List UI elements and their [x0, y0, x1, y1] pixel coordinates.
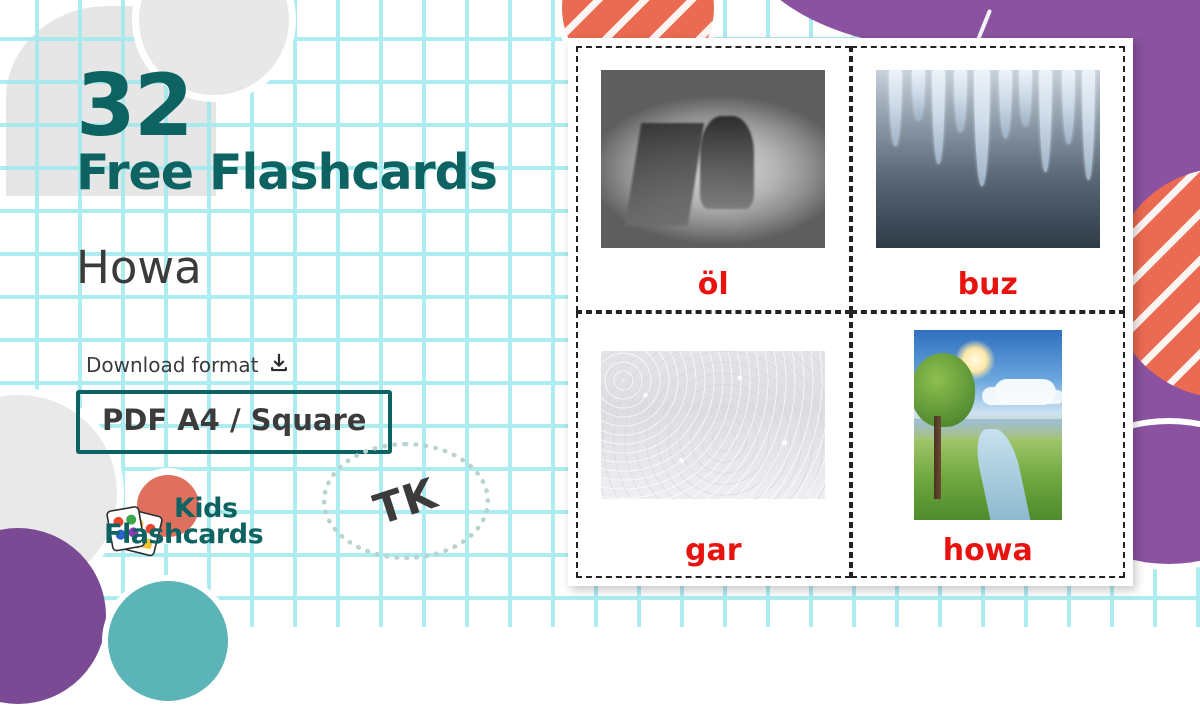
flashcards-preview-panel: öl buz [568, 38, 1133, 586]
flashcard[interactable]: buz [851, 46, 1126, 312]
download-format-row: Download format [86, 352, 290, 378]
flashcard-count: 32 [76, 66, 192, 148]
landscape-weather-photo [914, 330, 1062, 520]
flashcard-label: howa [943, 536, 1033, 576]
flashcard[interactable]: howa [851, 312, 1126, 578]
download-format-button[interactable]: PDF A4 / Square [76, 390, 392, 454]
left-info-column: 32 Free Flashcards Howa Download format … [0, 0, 560, 627]
icicles-photo [876, 70, 1100, 248]
flashcard-label: gar [685, 536, 742, 576]
download-format-label: Download format [86, 353, 259, 377]
flashcard-image [853, 48, 1124, 270]
flashcard-image [578, 48, 849, 270]
puddle-reflection-photo [601, 70, 825, 248]
brand-logo[interactable]: Kids Flashcards [104, 498, 364, 568]
flashcard[interactable]: gar [576, 312, 851, 578]
flashcard-image [578, 314, 849, 536]
snow-surface-photo [601, 351, 825, 499]
flashcard-label: buz [958, 270, 1018, 310]
flashcard[interactable]: öl [576, 46, 851, 312]
flashcard-label: öl [698, 270, 729, 310]
flashcards-grid: öl buz [576, 46, 1125, 578]
download-icon [268, 352, 290, 378]
deck-title: Howa [76, 244, 202, 291]
download-format-value: PDF A4 / Square [102, 403, 366, 437]
brand-name: Kids Flashcards [156, 496, 263, 548]
brand-name-line2: Flashcards [104, 522, 263, 548]
language-code-label: TK [368, 468, 443, 534]
headline-free-flashcards: Free Flashcards [76, 148, 497, 197]
flashcard-image [853, 314, 1124, 536]
